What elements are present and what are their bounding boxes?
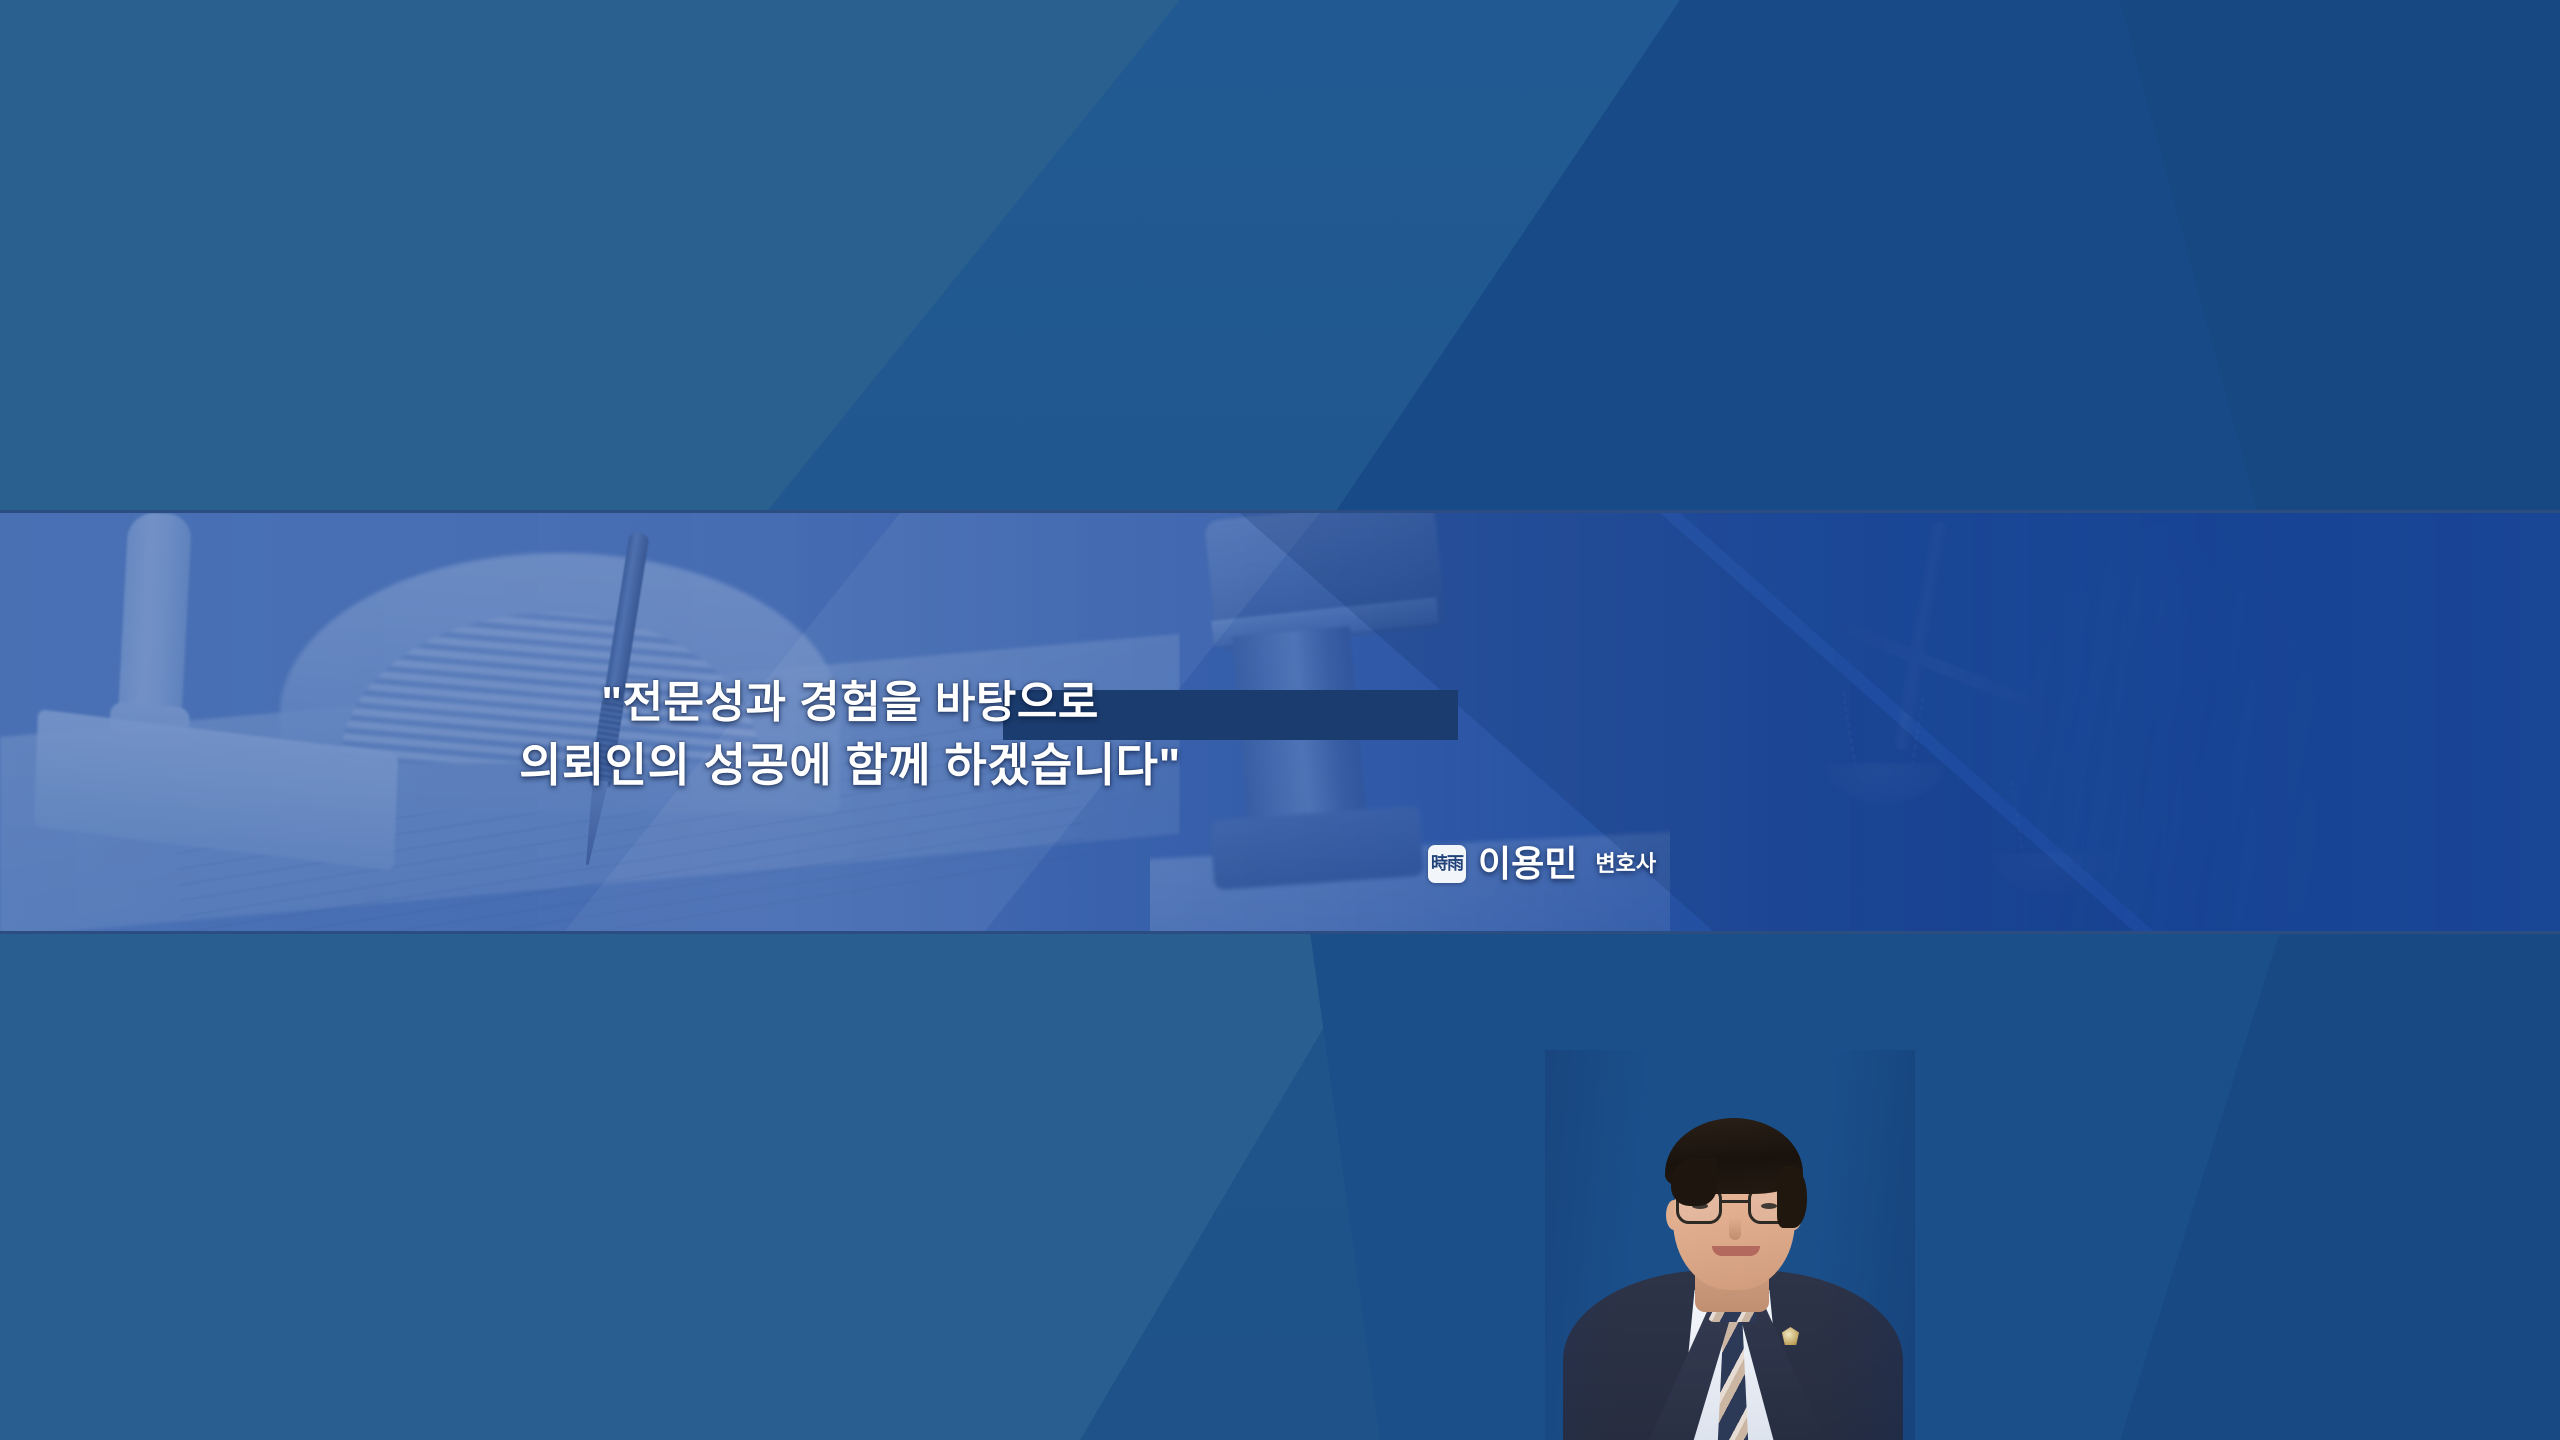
portrait-hair-side xyxy=(1777,1166,1807,1228)
lawyer-signature: 時雨 이용민 변호사 xyxy=(1428,845,1656,883)
hero-quote: "전문성과 경험을 바탕으로 의뢰인의 성공에 함께 하겠습니다" xyxy=(0,672,1700,796)
lawyer-name: 이용민 xyxy=(1478,846,1577,882)
portrait-nose xyxy=(1729,1218,1741,1240)
quote-line-2: 의뢰인의 성공에 함께 하겠습니다" xyxy=(0,734,1700,796)
siu-logo-text: 時雨 xyxy=(1431,856,1463,873)
siu-logo-icon: 時雨 xyxy=(1428,845,1466,883)
quote-line-1: "전문성과 경험을 바탕으로 xyxy=(0,672,1700,734)
eyeglass-bridge xyxy=(1722,1200,1748,1203)
portrait-mouth xyxy=(1712,1246,1760,1256)
banner-stage: "전문성과 경험을 바탕으로 의뢰인의 성공에 함께 하겠습니다" 時雨 이용민… xyxy=(0,0,2560,1440)
lawyer-portrait xyxy=(1545,1050,1915,1440)
lawyer-role: 변호사 xyxy=(1595,853,1656,875)
